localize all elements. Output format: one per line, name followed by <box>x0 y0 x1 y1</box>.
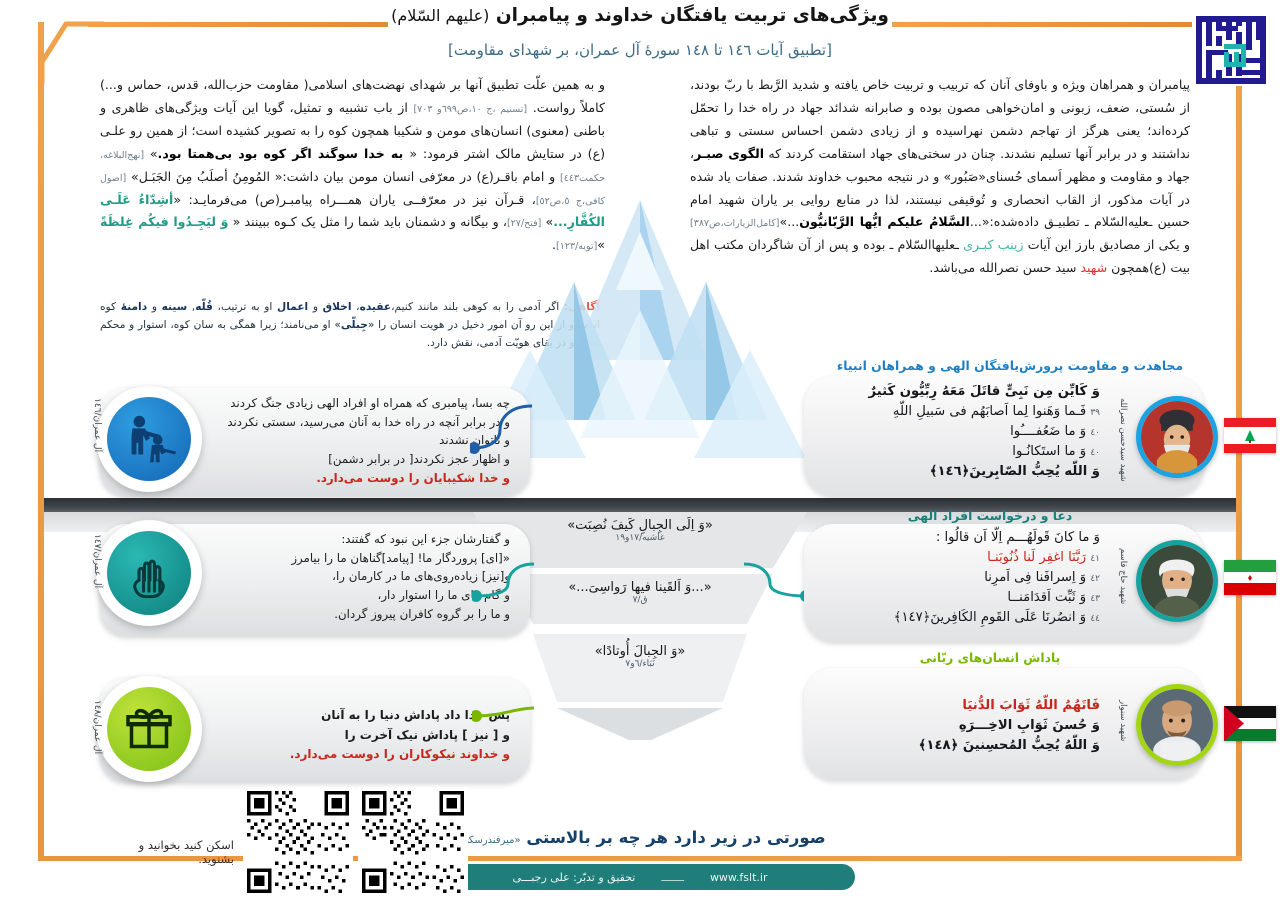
intro-right-g1: زینب کبـری <box>963 237 1023 252</box>
footer-credit-text: تحقیق و تدبّر: علی رجبـــی <box>513 871 636 884</box>
gift-icon <box>107 687 191 771</box>
praying-hands-icon <box>107 531 191 615</box>
right-card-1-person-label: شهید سیدحسن نصرالله <box>1118 398 1128 482</box>
lebanon-flag-image <box>1224 418 1276 453</box>
frame-left-bar <box>38 22 44 860</box>
connector-left-1 <box>470 400 540 460</box>
note-t4: او به ترتیب، <box>213 301 277 313</box>
right-card-1-num-2: ٣٩ <box>1090 408 1100 418</box>
left-card-2-line-3: و[نیز] زیاده‌روی‌های ما در کارمان را، <box>190 567 510 586</box>
infographic-page: ویژگی‌های تربیت یافتگان خداوند و پیامبرا… <box>0 0 1280 899</box>
intro-left-p3: » <box>144 146 157 161</box>
right-card-3-line-1-row: فَاتَهُمُ اللّهُ ثَوَابَ الدُّنیَا <box>830 696 1100 716</box>
right-section-1-heading: مجاهدت و مقاومت پرورش‌یافتگان الهی و همر… <box>830 358 1190 373</box>
portrait-sinwar <box>1136 684 1218 766</box>
right-card-1-num-3: ٤٠ <box>1090 428 1100 438</box>
right-card-2-line-2: رَبَّنَا اغفِر لَنا ذُنُوبَنـا <box>987 550 1086 565</box>
note-b1: عقیده <box>360 301 392 313</box>
right-card-2-line-3-row: ٤٢ وَ اِسرافَنا فِى اَمرِنا <box>830 568 1100 588</box>
praying-hands-icon-glyph <box>120 544 178 602</box>
left-card-3-text: پس خدا داد پاداش دنیا را به آنان و [ نیز… <box>190 706 510 765</box>
footer-credit-bar: www.fslt.ir ـــــــ تحقیق و تدبّر: علی ر… <box>425 864 855 890</box>
right-card-3-person-label: شهید سنوار <box>1118 700 1128 741</box>
intro-left-p4: و امام باقـر(ع) در معرّفی انسان مومن بیا… <box>126 169 560 184</box>
left-card-1-line-2: و در برابر آنچه در راه خدا به آنان می‌رس… <box>190 413 510 432</box>
left-card-1-text: چه بسا، پیامبری که همراه او افراد الهی ز… <box>190 394 510 487</box>
right-section-2-heading: دعا و درخواست افراد الهی <box>840 508 1140 523</box>
right-card-2-line-1-row: وَ ما کانَ قَولَهُـــم اِلّا اَن قالُوا … <box>830 528 1100 548</box>
palestine-flag <box>1224 706 1276 741</box>
footer-website-link[interactable]: www.fslt.ir <box>710 871 768 884</box>
right-card-2-line-2-row: ٤١ رَبَّنَا اغفِر لَنا ذُنُوبَنـا <box>830 548 1100 568</box>
left-card-2-line-2: «[ای] پروردگار ما! [پیامد]گناهان ما را ب… <box>190 549 510 568</box>
portrait-nasrallah <box>1136 396 1218 478</box>
portrait-sinwar-image <box>1141 689 1213 761</box>
right-card-1-line-3-row: ٤٠ وَ ما ضَعُفــــُوا <box>830 422 1100 442</box>
intro-right-p4: و یکی از مصادیق بارز این آیات <box>1024 237 1191 252</box>
left-card-2-line-5: و ما را بر گروه کافران پیروز گردان. <box>190 605 510 624</box>
left-card-1-line-1: چه بسا، پیامبری که همراه او افراد الهی ز… <box>190 394 510 413</box>
left-card-1-ref: آل عمران/١٤٦ <box>92 398 102 452</box>
note-b6: دامنهٔ <box>121 301 147 313</box>
palestine-flag-image <box>1224 706 1276 741</box>
funnel-step-3-text: «وَ الجِبالَ أُوتادًا» <box>510 644 770 659</box>
page-title-text: ویژگی‌های تربیت یافتگان خداوند و پیامبرا… <box>496 5 889 26</box>
left-badge-2 <box>96 520 202 626</box>
right-card-2-line-5-row: ٤٤ وَ انصُرنَا عَلَى القَومِ الکَافِرینَ… <box>830 608 1100 628</box>
right-card-1-ayah: وَ کَایِّن مِن نَبِیٍّ قاتَلَ مَعَهُ رِب… <box>830 382 1100 482</box>
right-card-1-line-4: وَ ما استَکانُـوا <box>1012 444 1086 459</box>
right-card-1-line-4-row: ٤٠ وَ ما استَکانُـوا <box>830 442 1100 462</box>
left-badge-1 <box>96 386 202 492</box>
note-b3: اعمال <box>277 301 308 313</box>
right-card-2-line-1: وَ ما کانَ قَولَهُـــم اِلّا اَن قالُوا … <box>936 530 1100 545</box>
right-card-2-line-3: وَ اِسرافَنا فِى اَمرِنا <box>984 570 1086 585</box>
funnel-step-3-ref: نَبَاء/٦و٧ <box>510 659 770 669</box>
right-card-2-line-5: وَ انصُرنَا عَلَى القَومِ الکَافِرینَ﴿١٤… <box>894 610 1086 625</box>
connector-left-2 <box>472 560 542 608</box>
left-card-3-line-3: و خداوند نیکوکاران را دوست می‌دارد. <box>190 745 510 765</box>
scan-instruction: اسکن کنید بخوانید و بشنوید. <box>104 838 234 866</box>
qr-code-1[interactable] <box>243 787 353 897</box>
left-card-3-line-1: پس خدا داد پاداش دنیا را به آنان <box>190 706 510 726</box>
credit-divider: ـــــــ <box>661 871 684 884</box>
right-card-1-line-1: وَ کَایِّن مِن نَبِیٍّ قاتَلَ مَعَهُ رِب… <box>830 382 1100 402</box>
left-card-1-line-5: و خدا شکیبایان را دوست می‌دارد. <box>190 469 510 488</box>
portrait-nasrallah-image <box>1141 401 1213 473</box>
intro-right-p6: سید حسن نصرالله می‌باشد. <box>929 260 1080 275</box>
intro-right-b1: الگوی صبـر <box>694 146 764 161</box>
note-b4: قُلّه <box>195 301 213 313</box>
right-card-3-line-1: فَاتَهُمُ اللّهُ ثَوَابَ الدُّنیَا <box>962 698 1100 713</box>
right-card-3-ayah: فَاتَهُمُ اللّهُ ثَوَابَ الدُّنیَا وَ حُ… <box>830 696 1100 756</box>
right-card-2-num-3: ٤٢ <box>1090 574 1100 584</box>
lebanon-flag <box>1224 418 1276 453</box>
portrait-soleimani-image <box>1141 545 1213 617</box>
iran-flag-image <box>1224 560 1276 595</box>
right-card-2-person-label: شهید حاج قاسم <box>1118 548 1128 604</box>
right-card-1-line-5: وَ اللّه یُحِبُّ الصّابِرینَ﴿١٤٦﴾ <box>830 462 1100 482</box>
intro-left-src1: [تسنیم ،ج ١٠،ص٦٩٩و ٧٠٣] <box>413 104 527 115</box>
note-t6: و <box>147 301 161 313</box>
right-section-3-heading: پاداش انسان‌های ربّانی <box>860 650 1120 665</box>
note-t5: , <box>187 301 195 313</box>
footer-quote-text: صورتی در زیر دارد هر چه بر بالاستی <box>526 828 825 847</box>
left-card-2-text: و گفتارشان جزء این نبود که گفتند: «[ای] … <box>190 530 510 623</box>
intro-left-b1: به خدا سوگند اگر کوه بود بی‌همتا بود. <box>158 146 410 161</box>
right-card-1-line-3: وَ ما ضَعُفــــُوا <box>1010 424 1086 439</box>
right-card-1-line-2-row: ٣٩ فَـما وَهَنوا لِما اَصابَهُم فى سَبیل… <box>830 402 1100 422</box>
page-subtitle: [تطبیق آیات ١٤٦ تا ١٤٨ سورهٔ آل عمران، ب… <box>0 41 1280 59</box>
left-card-1-line-3: و ناتوان نشدند <box>190 431 510 450</box>
right-card-3-line-3: وَ اللّهُ یُحِبُّ المُحسِنینَ ﴿١٤٨﴾ <box>830 736 1100 756</box>
intro-right-p1: پیامبران و همراهان ویژه و باوفای آنان که… <box>690 77 1190 161</box>
connector-right-2 <box>736 560 810 608</box>
qr-code-2-image <box>362 791 464 893</box>
qr-code-1-image <box>247 791 349 893</box>
note-t3: و <box>308 301 322 313</box>
right-card-2-num-2: ٤١ <box>1090 554 1100 564</box>
funnel-step-3: «وَ الجِبالَ أُوتادًا» نَبَاء/٦و٧ <box>510 644 770 669</box>
right-card-2-line-4-row: ٤٣ وَ ثَبِّت اَقدَامَنــا <box>830 588 1100 608</box>
intro-right-r1: شهید <box>1080 260 1107 275</box>
left-card-2-line-4: و گام های ما را استوار دار، <box>190 586 510 605</box>
right-card-3-line-2: وَ حُسنَ ثَوَابِ الاخِـــرَهِ <box>830 716 1100 736</box>
note-b2: اخلاق <box>323 301 352 313</box>
qr-code-2[interactable] <box>358 787 468 897</box>
bismillah-kufic-logo <box>1194 14 1268 86</box>
page-title-paren: (علیهم السّلام) <box>391 6 489 25</box>
right-card-2-ayah: وَ ما کانَ قَولَهُـــم اِلّا اَن قالُوا … <box>830 528 1100 628</box>
portrait-soleimani <box>1136 540 1218 622</box>
left-badge-3 <box>96 676 202 782</box>
left-card-2-line-1: و گفتارشان جزء این نبود که گفتند: <box>190 530 510 549</box>
right-card-1-num-4: ٤٠ <box>1090 448 1100 458</box>
left-card-3-line-2: و [ نیز ] پاداش نیک آخرت را <box>190 726 510 746</box>
left-card-2-ref: آل عمران/١٤٧ <box>92 534 102 588</box>
left-card-1-line-4: و اظهار عجز نکردند[ در برابر دشمن] <box>190 450 510 469</box>
gift-icon-glyph <box>121 701 177 757</box>
right-card-2-line-4: وَ ثَبِّت اَقدَامَنــا <box>1007 590 1086 605</box>
note-t2: ، <box>351 301 359 313</box>
soldiers-icon-glyph <box>118 408 180 470</box>
connector-left-3 <box>472 702 542 742</box>
right-card-1-line-2: فَـما وَهَنوا لِما اَصابَهُم فى سَبیلِ ا… <box>893 404 1086 419</box>
note-b7: جِبلّی <box>341 319 368 331</box>
left-card-3-ref: آل عمران/١٤٨ <box>92 700 102 754</box>
page-title: ویژگی‌های تربیت یافتگان خداوند و پیامبرا… <box>0 5 1280 26</box>
iran-flag <box>1224 560 1276 595</box>
note-b5: سینه <box>162 301 188 313</box>
intro-left-g2: وَ لیَجِـدُوا فیکُم غِلظَةً <box>100 214 228 229</box>
soldiers-icon <box>107 397 191 481</box>
right-card-2-num-4: ٤٣ <box>1090 594 1100 604</box>
right-card-2-num-5: ٤٤ <box>1090 614 1100 624</box>
